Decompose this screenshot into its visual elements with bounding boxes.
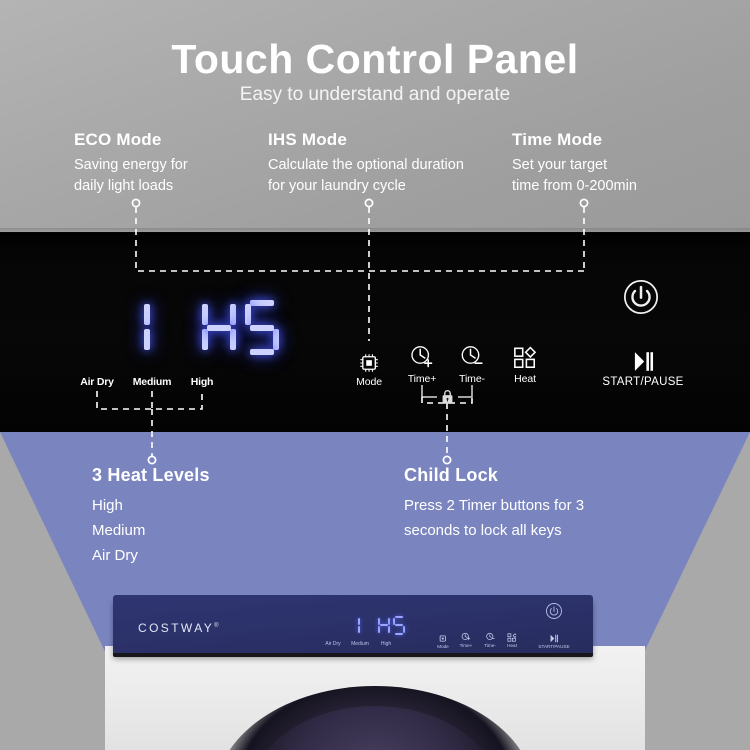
power-button[interactable] <box>622 278 660 316</box>
time-plus-button[interactable]: Time+ <box>408 342 437 385</box>
brand-registered-mark: ® <box>214 623 221 629</box>
product-start-pause-button: START/PAUSE <box>538 630 569 649</box>
product-heat-label-air-dry: Air Dry <box>325 641 340 647</box>
clock-minus-icon <box>459 342 485 370</box>
callout-eco-line-2: daily light loads <box>74 176 259 197</box>
costway-brand-logo: COSTWAY® <box>138 621 221 635</box>
touch-control-panel <box>0 232 750 432</box>
callout-child-line-2: seconds to lock all keys <box>404 518 664 543</box>
product-heat-label-medium: Medium <box>351 641 369 647</box>
product-heat-button: Heat <box>507 629 517 648</box>
product-led-digit-H <box>378 616 390 635</box>
heat-label-medium: Medium <box>133 376 171 388</box>
product-mode-label: Mode <box>437 644 449 649</box>
product-led-digit-1 <box>348 616 360 635</box>
led-digit-1 <box>116 300 150 355</box>
callout-heat-line-2: Medium <box>92 518 342 543</box>
callout-child-lock: Child Lock Press 2 Timer buttons for 3 s… <box>404 465 664 543</box>
product-mode-button: Mode <box>437 630 449 649</box>
time-minus-button[interactable]: Time- <box>459 342 485 385</box>
page-title: Touch Control Panel <box>0 36 750 83</box>
callout-ihs-mode: IHS Mode Calculate the optional duration… <box>268 130 498 197</box>
product-led-digit-blank <box>363 616 375 635</box>
callout-ihs-title: IHS Mode <box>268 130 498 150</box>
callout-ihs-line-2: for your laundry cycle <box>268 176 498 197</box>
clock-minus-icon <box>484 629 496 642</box>
start-pause-button-label: START/PAUSE <box>602 376 683 388</box>
product-led-digit-5 <box>393 616 405 635</box>
callout-time-title: Time Mode <box>512 130 712 150</box>
heat-button-label: Heat <box>513 373 537 385</box>
callout-child-line-1: Press 2 Timer buttons for 3 <box>404 493 664 518</box>
start-pause-button[interactable]: START/PAUSE <box>602 345 683 388</box>
chip-icon <box>356 345 382 373</box>
product-time-plus-label: Time+ <box>460 643 473 648</box>
led-display <box>116 300 279 355</box>
callout-eco-mode: ECO Mode Saving energy for daily light l… <box>74 130 259 197</box>
heat-squares-icon <box>513 342 537 370</box>
heat-button[interactable]: Heat <box>513 342 537 385</box>
product-start-pause-label: START/PAUSE <box>538 644 569 649</box>
mode-button-label: Mode <box>356 376 382 388</box>
led-digit-blank <box>159 300 193 355</box>
play-pause-icon <box>538 630 569 643</box>
play-pause-icon <box>602 345 683 373</box>
callout-heat-levels: 3 Heat Levels High Medium Air Dry <box>92 465 342 568</box>
heat-squares-icon <box>507 629 517 642</box>
callout-ihs-line-1: Calculate the optional duration <box>268 155 498 176</box>
background-top-gradient <box>0 0 750 232</box>
infographic-stage: COSTWAY® Air Dry Medium High <box>0 0 750 750</box>
clock-plus-icon <box>460 629 473 642</box>
callout-heat-title: 3 Heat Levels <box>92 465 342 486</box>
product-power-icon <box>545 602 563 620</box>
product-time-plus-button: Time+ <box>460 629 473 648</box>
clock-plus-icon <box>408 342 437 370</box>
callout-time-line-2: time from 0-200min <box>512 176 712 197</box>
led-digit-H <box>202 300 236 355</box>
product-heat-label: Heat <box>507 643 517 648</box>
callout-time-line-1: Set your target <box>512 155 712 176</box>
time-minus-button-label: Time- <box>459 373 485 385</box>
callout-child-title: Child Lock <box>404 465 664 486</box>
heat-label-high: High <box>191 376 214 388</box>
callout-time-mode: Time Mode Set your target time from 0-20… <box>512 130 712 197</box>
callout-heat-line-1: High <box>92 493 342 518</box>
led-digit-5 <box>245 300 279 355</box>
chip-icon <box>437 630 449 643</box>
mode-button[interactable]: Mode <box>356 345 382 388</box>
time-plus-button-label: Time+ <box>408 373 437 385</box>
product-led-display <box>348 616 405 635</box>
page-subtitle: Easy to understand and operate <box>0 84 750 106</box>
padlock-icon <box>440 389 455 405</box>
callout-heat-line-3: Air Dry <box>92 543 342 568</box>
product-time-minus-button: Time- <box>484 629 496 648</box>
callout-eco-line-1: Saving energy for <box>74 155 259 176</box>
brand-text: COSTWAY <box>138 621 214 635</box>
product-time-minus-label: Time- <box>484 643 496 648</box>
heat-label-air-dry: Air Dry <box>80 376 114 388</box>
callout-eco-title: ECO Mode <box>74 130 259 150</box>
product-heat-label-high: High <box>381 641 391 647</box>
